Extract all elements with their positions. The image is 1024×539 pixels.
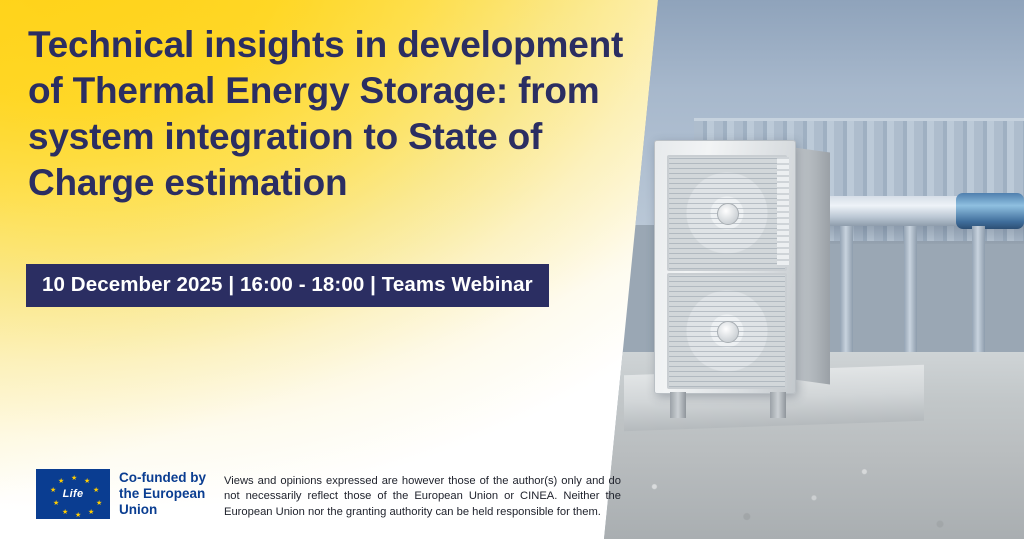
webinar-banner: Technical insights in development of The… xyxy=(0,0,1024,539)
eu-flag-icon: ★ ★ ★ ★ ★ ★ ★ ★ ★ ★ Life xyxy=(36,469,110,519)
photo-support-post xyxy=(840,226,853,358)
photo-support-post xyxy=(904,226,917,358)
photo-unit-leg xyxy=(770,392,786,418)
eu-logo-text: Co-funded by the European Union xyxy=(119,470,208,518)
photo-heat-pump-unit xyxy=(654,140,796,394)
photo-pipe-blue-segment xyxy=(956,193,1024,229)
photo-side-vent xyxy=(777,157,789,267)
photo-fan-grille-bottom xyxy=(667,273,787,389)
eu-logo-line2: the European Union xyxy=(119,486,208,518)
hvac-photo xyxy=(604,0,1024,539)
event-date-badge: 10 December 2025 | 16:00 - 18:00 | Teams… xyxy=(26,264,549,307)
eu-logo-line1: Co-funded by xyxy=(119,470,208,486)
eu-cofunded-logo: ★ ★ ★ ★ ★ ★ ★ ★ ★ ★ Life Co-funded by th… xyxy=(36,467,208,521)
page-title: Technical insights in development of The… xyxy=(28,22,648,206)
photo-unit-side-panel xyxy=(794,147,830,384)
disclaimer-text: Views and opinions expressed are however… xyxy=(224,474,621,520)
life-programme-label: Life xyxy=(63,488,84,500)
photo-unit-leg xyxy=(670,392,686,418)
photo-support-post xyxy=(972,226,985,358)
photo-fan-hub xyxy=(717,203,739,225)
photo-fan-grille-top xyxy=(667,155,787,271)
photo-fan-hub xyxy=(717,321,739,343)
